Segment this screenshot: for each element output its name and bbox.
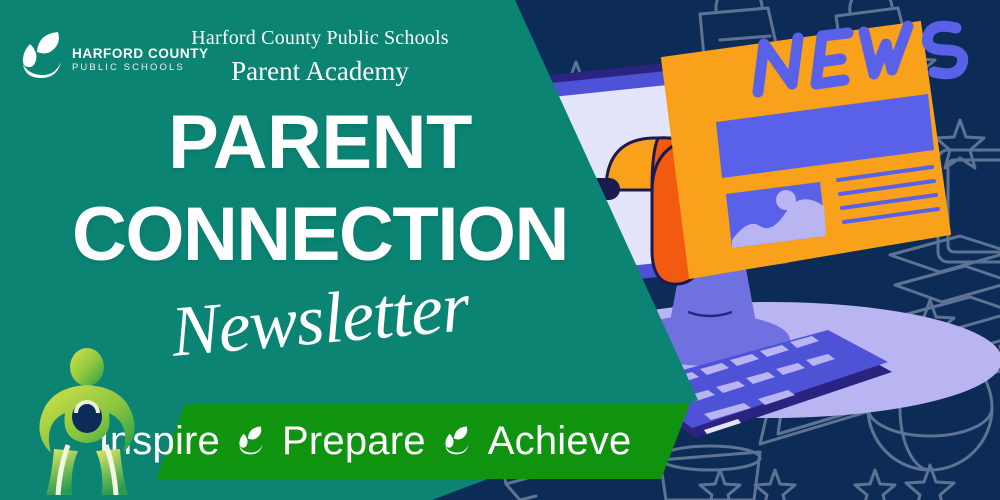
hcps-leaf-flame-icon	[234, 424, 268, 458]
hcps-leaf-flame-icon	[440, 424, 474, 458]
title-line-1: PARENT	[60, 106, 580, 180]
newsletter-banner: Harford County Public Schools Parent Aca…	[0, 0, 1000, 500]
hcps-logo: HARFORD COUNTY PUBLIC SCHOOLS	[18, 26, 178, 86]
hcps-leaf-flame-icon	[18, 28, 66, 84]
hcps-logo-line2: PUBLIC SCHOOLS	[72, 61, 209, 75]
newspaper-icon	[662, 22, 963, 278]
hcps-logo-line1: HARFORD COUNTY	[72, 47, 209, 61]
tagline-word-prepare: Prepare	[282, 419, 426, 464]
tagline-word-achieve: Achieve	[488, 419, 632, 464]
parent-academy-figure-icon	[22, 345, 152, 500]
